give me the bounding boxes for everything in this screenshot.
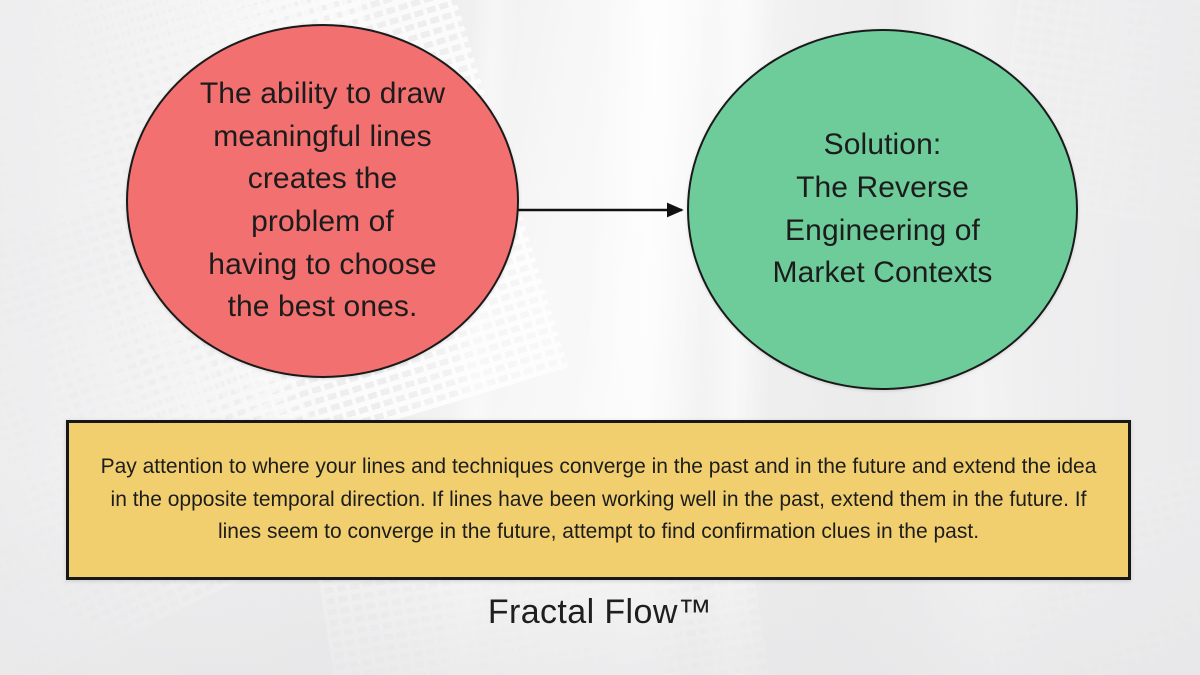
guidance-note-text: Pay attention to where your lines and te…: [69, 451, 1128, 549]
slide-canvas: The ability to draw meaningful lines cre…: [0, 0, 1200, 675]
solution-circle-label: Solution: The Reverse Engineering of Mar…: [743, 124, 1023, 294]
arrow-right-icon: [512, 196, 694, 224]
brand-title: Fractal Flow™: [0, 593, 1200, 632]
problem-circle[interactable]: The ability to draw meaningful lines cre…: [126, 24, 519, 378]
guidance-note-box[interactable]: Pay attention to where your lines and te…: [66, 420, 1131, 580]
problem-circle-label: The ability to draw meaningful lines cre…: [166, 73, 479, 329]
solution-circle[interactable]: Solution: The Reverse Engineering of Mar…: [687, 29, 1078, 390]
